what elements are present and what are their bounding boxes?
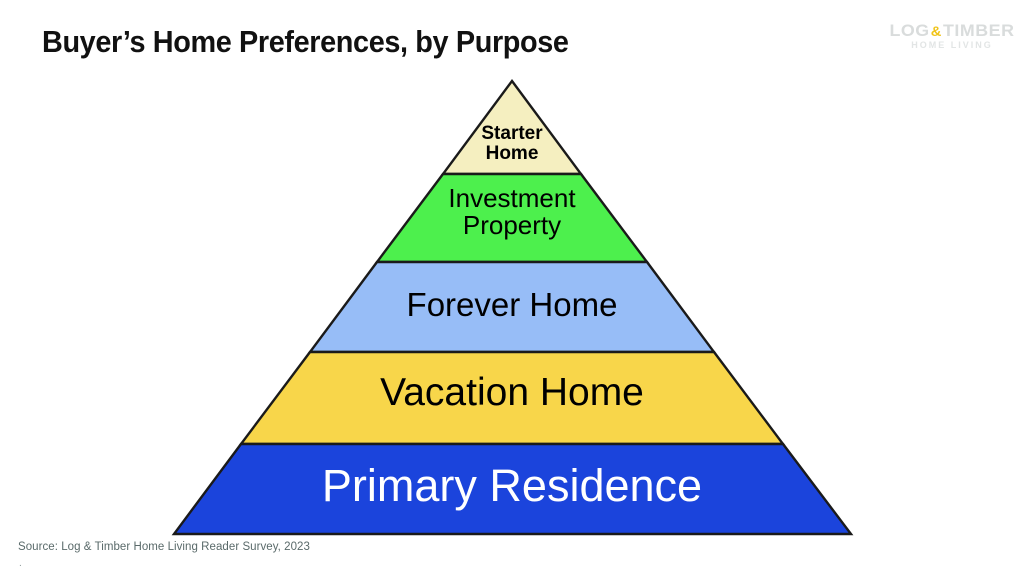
trailing-mark: .: [19, 558, 22, 569]
source-note: Source: Log & Timber Home Living Reader …: [18, 541, 310, 553]
pyramid-chart: Starter Home Investment Property Forever…: [0, 0, 1024, 576]
pyramid-svg: [0, 0, 1024, 576]
slide-canvas: Buyer’s Home Preferences, by Purpose LOG…: [0, 0, 1024, 576]
pyramid-tier-vacation-home: [241, 352, 783, 444]
pyramid-tier-starter-home: [443, 81, 581, 174]
pyramid-tier-primary-residence: [174, 444, 851, 534]
pyramid-tier-forever-home: [310, 262, 714, 352]
pyramid-tier-investment-property: [377, 174, 647, 262]
